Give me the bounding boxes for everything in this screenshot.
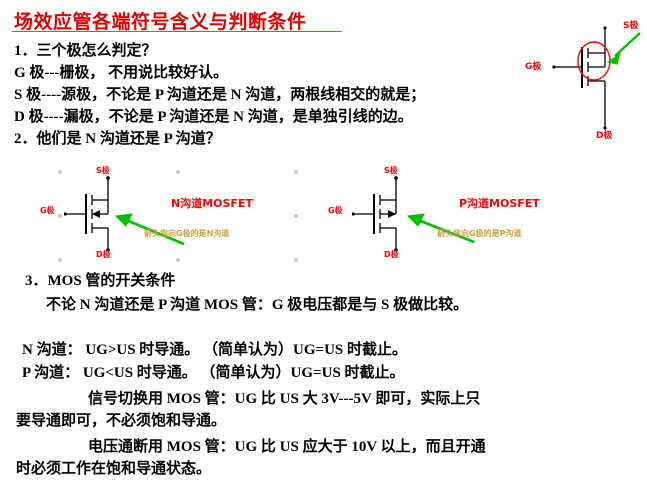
section-3-line-voltage-switch-2: 时必须工作在饱和导通状态。 [16, 462, 211, 477]
n-channel-drain-label: D极 [96, 251, 111, 259]
section-3-line-n-channel: N 沟道： UG>US 时导通。 （简单认为）UG=US 时截止。 [22, 343, 407, 358]
n-channel-source-label: S极 [96, 167, 110, 175]
mosfet-symbol-p-channel: S极 G极 D极 P沟道MOSFET 箭头背向G极的是P沟道 [312, 166, 602, 266]
mosfet-symbol-top-right: G极 S极 D极 [520, 18, 647, 148]
title-underline-rule [12, 31, 342, 32]
mosfet-symbol-n-channel: S极 G极 D极 N沟道MOSFET 箭头指向G极的是N沟道 [24, 166, 314, 266]
section-1-line-s: S 极----源极，不论是 P 沟道还是 N 沟道，两根线相交的就是； [14, 88, 425, 103]
n-channel-annotation: 箭头指向G极的是N沟道 [144, 228, 229, 239]
section-3-line-1: 不论 N 沟道还是 P 沟道 MOS 管：G 极电压都是与 S 极做比较。 [46, 298, 468, 313]
section-3-line-p-channel: P 沟道： UG<US 时导通。 （简单认为）UG=US 时截止。 [22, 366, 405, 381]
p-channel-gate-label: G极 [328, 207, 343, 215]
page-title: 场效应管各端符号含义与判断条件 [14, 7, 307, 34]
section-3-heading: 3．MOS 管的开关条件 [25, 274, 175, 289]
p-channel-caption: P沟道MOSFET [459, 195, 540, 211]
section-1-line-d: D 极----漏极，不论是 P 沟道还是 N 沟道，是单独引线的边。 [14, 110, 413, 125]
p-channel-source-label: S极 [384, 167, 398, 175]
selection-handle[interactable] [294, 170, 298, 174]
selection-handle[interactable] [58, 258, 62, 262]
p-channel-drain-label: D极 [384, 251, 399, 259]
selection-handle[interactable] [58, 170, 62, 174]
n-channel-caption: N沟道MOSFET [171, 195, 253, 211]
top-right-gate-label: G极 [525, 63, 541, 72]
section-3-line-voltage-switch-1: 电压通断用 MOS 管：UG 比 US 应大于 10V 以上，而且开通 [88, 440, 486, 455]
section-1-heading: 1．三个极怎么判定？ [14, 44, 157, 59]
selection-handle[interactable] [294, 214, 298, 218]
section-2-heading: 2．他们是 N 沟道还是 P 沟道？ [14, 132, 221, 147]
top-right-drain-label: D极 [596, 132, 612, 141]
n-channel-symbol-svg [64, 172, 244, 262]
p-channel-annotation: 箭头背向G极的是P沟道 [437, 228, 521, 239]
section-3-line-signal-switch-2: 要导通即可，不必须饱和导通。 [16, 414, 226, 429]
p-channel-symbol-svg [352, 172, 532, 262]
section-3-line-signal-switch-1: 信号切换用 MOS 管：UG 比 US 大 3V---5V 即可，实际上只 [88, 392, 480, 407]
n-channel-gate-label: G极 [40, 207, 55, 215]
selection-handle[interactable] [294, 258, 298, 262]
mosfet-symbol-top-right-svg [520, 18, 647, 148]
top-right-source-label: S极 [623, 22, 638, 31]
section-1-line-g: G 极---栅极， 不用说比较好认。 [14, 66, 228, 81]
selection-handle[interactable] [58, 214, 62, 218]
